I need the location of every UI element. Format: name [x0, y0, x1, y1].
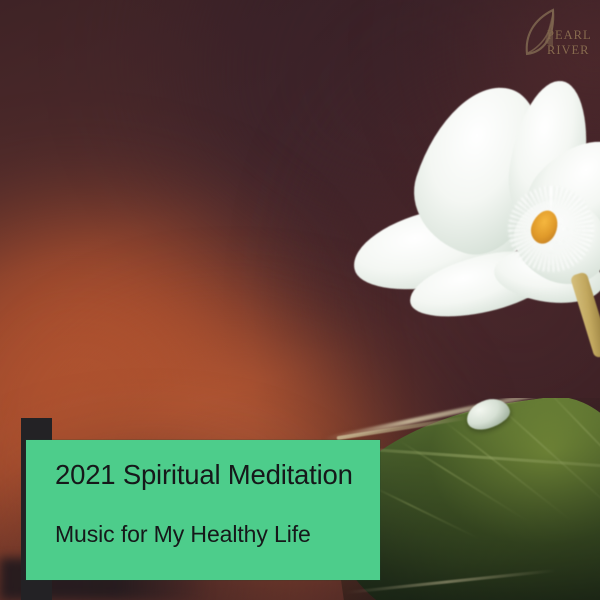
logo-word-pearl: PEARL	[547, 29, 592, 42]
logo-word-river: RIVER	[547, 44, 590, 57]
album-subtitle: Music for My Healthy Life	[55, 521, 311, 548]
album-title: 2021 Spiritual Meditation	[55, 459, 353, 491]
leaf-vein	[372, 486, 479, 540]
flower-illustration	[386, 74, 600, 324]
leaf-vein	[444, 421, 571, 521]
title-card: 2021 Spiritual Meditation Music for My H…	[26, 440, 380, 580]
album-cover: PEARL RIVER 2021 Spiritual Meditation Mu…	[0, 0, 600, 600]
pearl-river-logo: PEARL RIVER	[519, 6, 597, 64]
